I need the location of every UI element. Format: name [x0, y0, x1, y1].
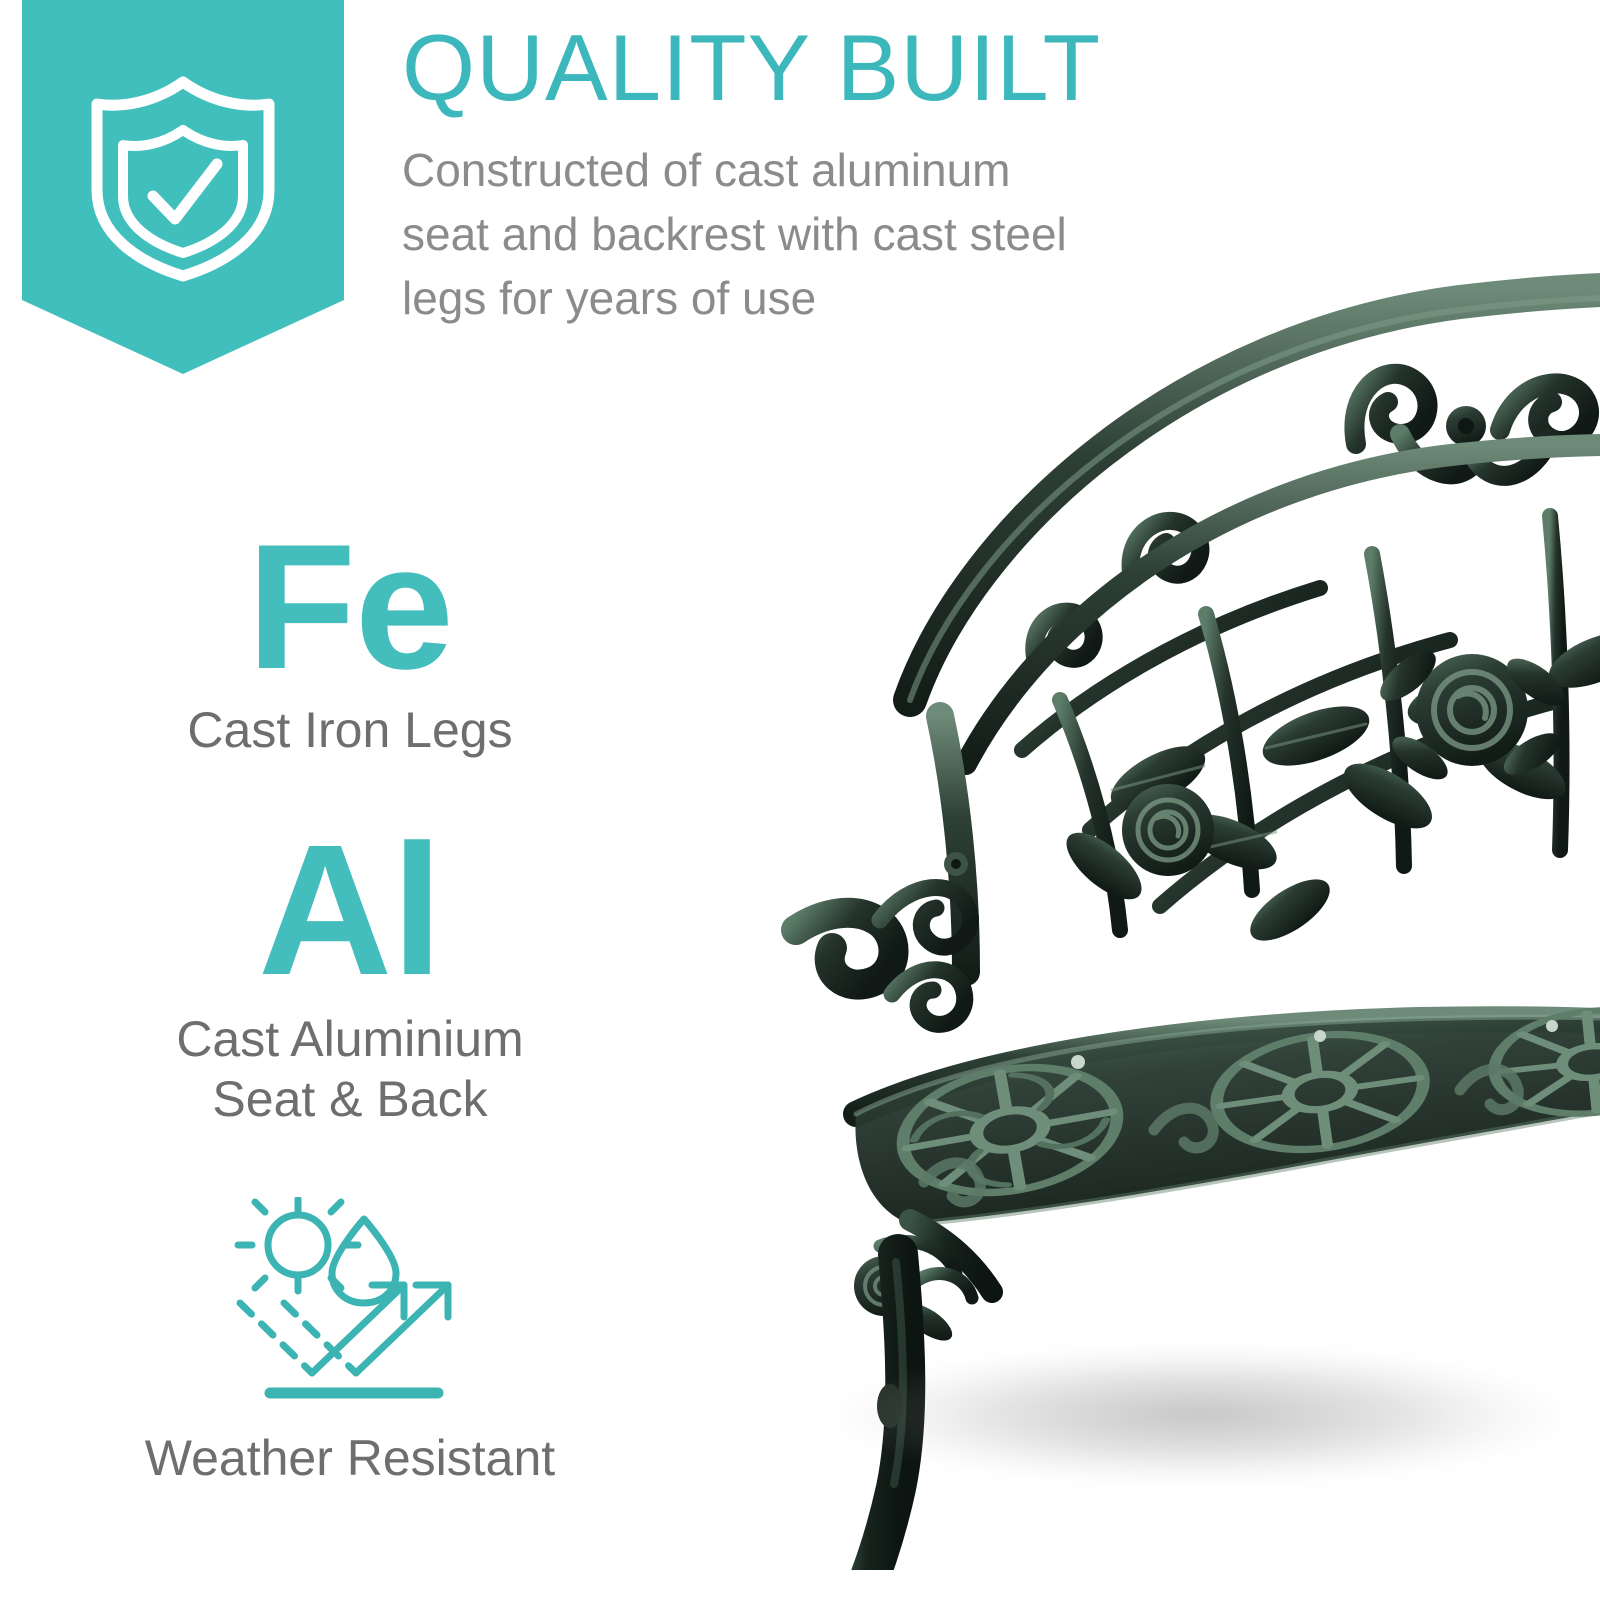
feature-caption-weather: Weather Resistant	[145, 1428, 555, 1488]
weather-resistant-icon	[226, 1197, 474, 1410]
feature-item-weather: Weather Resistant	[0, 1191, 700, 1488]
header-description-line: Constructed of cast aluminum	[402, 138, 1162, 202]
product-image	[760, 230, 1600, 1570]
feature-caption-aluminium: Cast Aluminium Seat & Back	[176, 1009, 523, 1129]
page-title: QUALITY BUILT	[402, 18, 1162, 118]
feature-caption-line: Cast Aluminium	[176, 1009, 523, 1069]
feature-list: Fe Cast Iron Legs Al Cast Aluminium Seat…	[0, 520, 700, 1488]
feature-item-aluminium: Al Cast Aluminium Seat & Back	[0, 820, 700, 1128]
feature-caption-line: Seat & Back	[176, 1069, 523, 1129]
shield-check-icon	[83, 72, 283, 284]
element-symbol-fe: Fe	[247, 520, 453, 694]
infographic-canvas: QUALITY BUILT Constructed of cast alumin…	[0, 0, 1600, 1600]
feature-caption-iron: Cast Iron Legs	[187, 700, 512, 760]
element-symbol-al: Al	[258, 820, 442, 1002]
product-shadow	[820, 1320, 1580, 1510]
feature-caption-line: Weather Resistant	[145, 1428, 555, 1488]
feature-caption-line: Cast Iron Legs	[187, 700, 512, 760]
quality-banner	[22, 0, 344, 374]
feature-item-iron: Fe Cast Iron Legs	[0, 520, 700, 760]
